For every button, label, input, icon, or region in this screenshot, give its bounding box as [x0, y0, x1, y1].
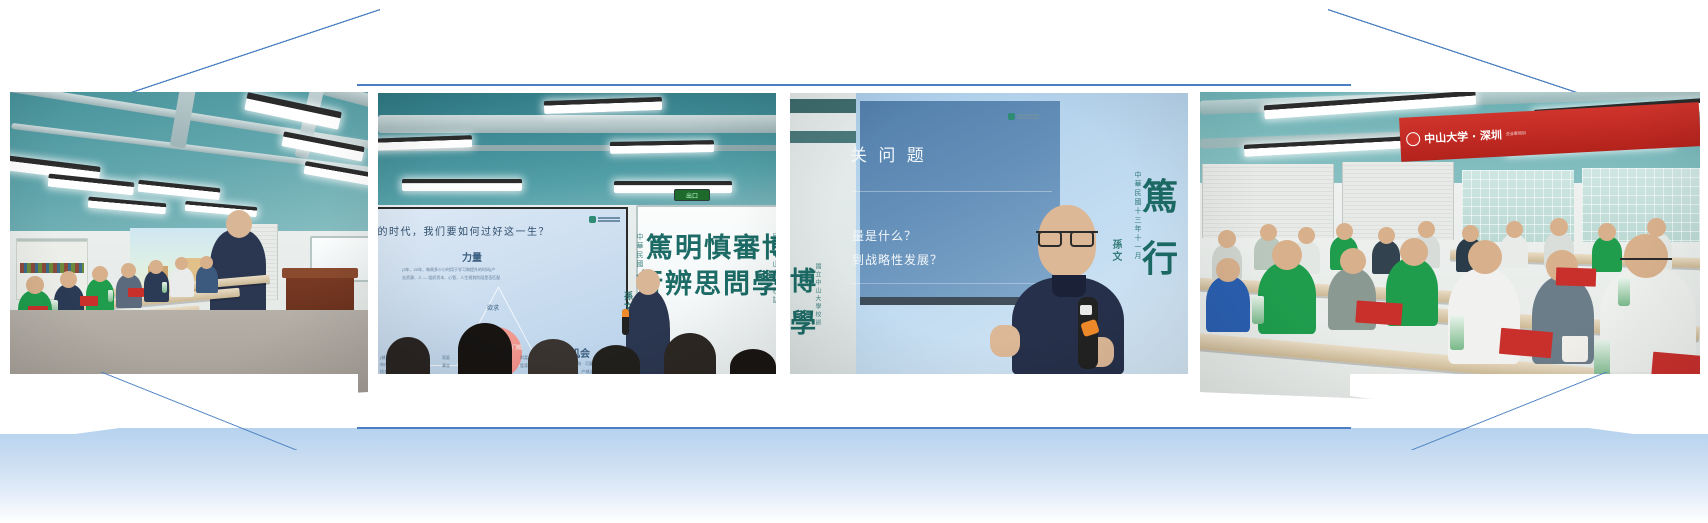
name-card: [1355, 300, 1402, 325]
calligraphy-line1: 篤明慎審博: [646, 235, 776, 262]
instructor: [210, 230, 266, 318]
calligraphy-right-note: 中華民國十三年十一月: [1134, 171, 1141, 261]
banner-subtitle-top: 企业家培训: [1506, 130, 1526, 137]
photo-carousel: 出口 化的时代，我们要如何过好这一生？ 力量 (3年、20年、每周多少小时用于学…: [0, 0, 1708, 523]
frame-accent-line-bottom: [357, 427, 1351, 429]
brand-logo: [589, 216, 620, 223]
bookshelf: [16, 238, 88, 242]
frame-accent-line-bottom-right: [1328, 372, 1708, 450]
projection-heading: 关 问 题: [850, 141, 927, 166]
projection-bullet-1: 量是什么？: [852, 227, 917, 244]
exit-sign: 出口: [674, 189, 710, 201]
photo-classroom-wide: [10, 18, 368, 412]
frame-accent-line-bottom-left: [0, 372, 380, 450]
photo-slide-triangle: 出口 化的时代，我们要如何过好这一生？ 力量 (3年、20年、每周多少小时用于学…: [378, 93, 776, 374]
projection-center-top: 欲求: [487, 305, 499, 314]
name-card: [1499, 328, 1553, 358]
banner-text: 中山大学 · 深圳: [1424, 127, 1503, 147]
attendee-green-polo: [1258, 262, 1316, 334]
calligraphy-right-2: 行: [1142, 241, 1180, 277]
photo-audience: 中山大学 · 深圳 企业家培训: [1200, 18, 1700, 412]
brand-logo: [1008, 113, 1039, 120]
carousel-slide-three[interactable]: 博 學 國立中山大學校訓 关 问 题 量是什么？ 到战略性发展？ 篤 行 中華民…: [790, 93, 1188, 374]
logo-wordmark: [598, 217, 620, 222]
carousel-slide-two[interactable]: 出口 化的时代，我们要如何过好这一生？ 力量 (3年、20年、每周多少小时用于学…: [378, 93, 776, 374]
calligraphy-left-note: 國立中山大學校訓: [814, 263, 820, 327]
carousel-slide-right[interactable]: 中山大学 · 深圳 企业家培训: [1200, 18, 1700, 412]
calligraphy-right-signature: 孫文: [1110, 239, 1120, 263]
calligraphy-side-left: 中華民國: [636, 233, 643, 269]
exit-sign-label: 出口: [686, 191, 698, 200]
logo-wordmark: [1017, 114, 1039, 119]
photo-speaker-mic: 博 學 國立中山大學校訓 关 问 题 量是什么？ 到战略性发展？ 篤 行 中華民…: [790, 93, 1188, 374]
logo-mark-icon: [1008, 113, 1015, 120]
projection-bullet-2: 到战略性发展？: [852, 251, 943, 268]
projection-top-label: 力量: [462, 251, 482, 266]
name-card: [1556, 267, 1597, 286]
calligraphy-side-right: 國立中山大學校訓: [772, 233, 776, 305]
projection-heading: 化的时代，我们要如何过好这一生？: [378, 223, 550, 238]
university-seal-icon: [1406, 132, 1421, 147]
logo-mark-icon: [589, 216, 596, 223]
calligraphy-right-1: 篤: [1142, 179, 1180, 215]
carousel-slide-left[interactable]: [10, 18, 368, 412]
microphone: [622, 309, 629, 335]
attendee-blue-polo: [1206, 276, 1250, 332]
